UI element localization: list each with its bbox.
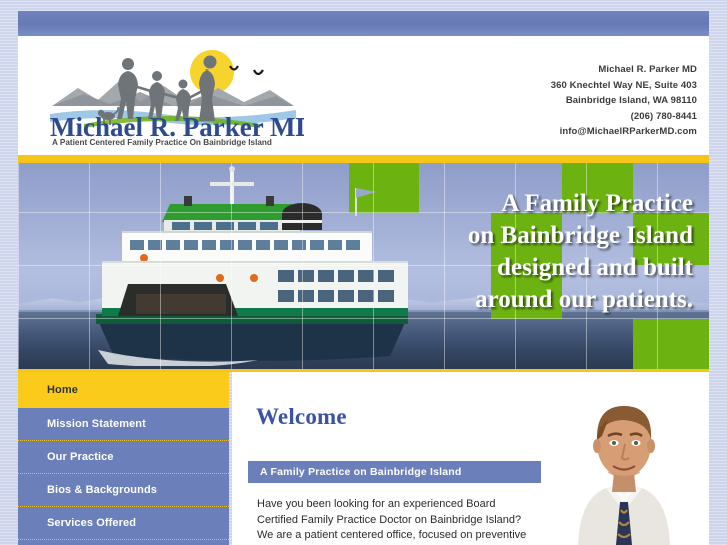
sidebar-item-label: Services Offered [47, 517, 136, 529]
intro-line-2: Certified Family Practice Doctor on Bain… [257, 513, 567, 529]
main-content: Welcome A Family Practice on Bainbridge … [232, 372, 709, 545]
intro-paragraph: Have you been looking for an experienced… [257, 497, 567, 544]
hero-banner: A Family Practice on Bainbridge Island d… [18, 160, 709, 372]
contact-city: Bainbridge Island, WA 98110 [377, 93, 697, 109]
contact-email[interactable]: info@MichaelRParkerMD.com [377, 124, 697, 140]
bird-icon [230, 66, 263, 74]
contact-name: Michael R. Parker MD [377, 62, 697, 78]
hero-line-4: around our patients. [263, 284, 693, 316]
site-header: Michael R. Parker MD A Patient Centered … [18, 36, 709, 155]
intro-line-3: We are a patient centered office, focuse… [257, 528, 567, 544]
intro-line-1: Have you been looking for an experienced… [257, 497, 567, 513]
hero-headline: A Family Practice on Bainbridge Island d… [263, 188, 693, 316]
hero-gold-rule-top [18, 160, 709, 163]
doctor-portrait [568, 386, 680, 545]
sidebar-item-services-offered[interactable]: Services Offered [18, 507, 229, 540]
hero-green-square [633, 319, 709, 372]
hero-line-2: on Bainbridge Island [263, 220, 693, 252]
logo-tagline: A Patient Centered Family Practice On Ba… [52, 138, 272, 147]
section-heading-label: A Family Practice on Bainbridge Island [260, 466, 462, 478]
sidebar-item-label: Our Practice [47, 451, 114, 463]
site-container: Michael R. Parker MD A Patient Centered … [18, 0, 709, 545]
contact-street: 360 Knechtel Way NE, Suite 403 [377, 78, 697, 94]
sidebar-item-bios-backgrounds[interactable]: Bios & Backgrounds [18, 474, 229, 507]
section-heading-banner: A Family Practice on Bainbridge Island [248, 461, 541, 483]
sidebar-item-home[interactable]: Home [18, 372, 229, 408]
page-title: Welcome [256, 404, 347, 430]
contact-info: Michael R. Parker MD 360 Knechtel Way NE… [377, 62, 697, 140]
hero-line-1: A Family Practice [263, 188, 693, 220]
hero-line-3: designed and built [263, 252, 693, 284]
sidebar-nav: Home Mission Statement Our Practice Bios… [18, 372, 229, 545]
hero-gold-rule-bottom [18, 369, 709, 372]
sidebar-item-our-practice[interactable]: Our Practice [18, 441, 229, 474]
sidebar-item-label: Mission Statement [47, 418, 146, 430]
sidebar-item-label: Home [47, 384, 78, 396]
top-blue-band [18, 11, 709, 36]
contact-phone[interactable]: (206) 780-8441 [377, 109, 697, 125]
sidebar-item-mission-statement[interactable]: Mission Statement [18, 408, 229, 441]
lower-section: Home Mission Statement Our Practice Bios… [18, 372, 709, 545]
site-logo[interactable]: Michael R. Parker MD A Patient Centered … [44, 44, 304, 148]
sidebar-item-label: Bios & Backgrounds [47, 484, 157, 496]
